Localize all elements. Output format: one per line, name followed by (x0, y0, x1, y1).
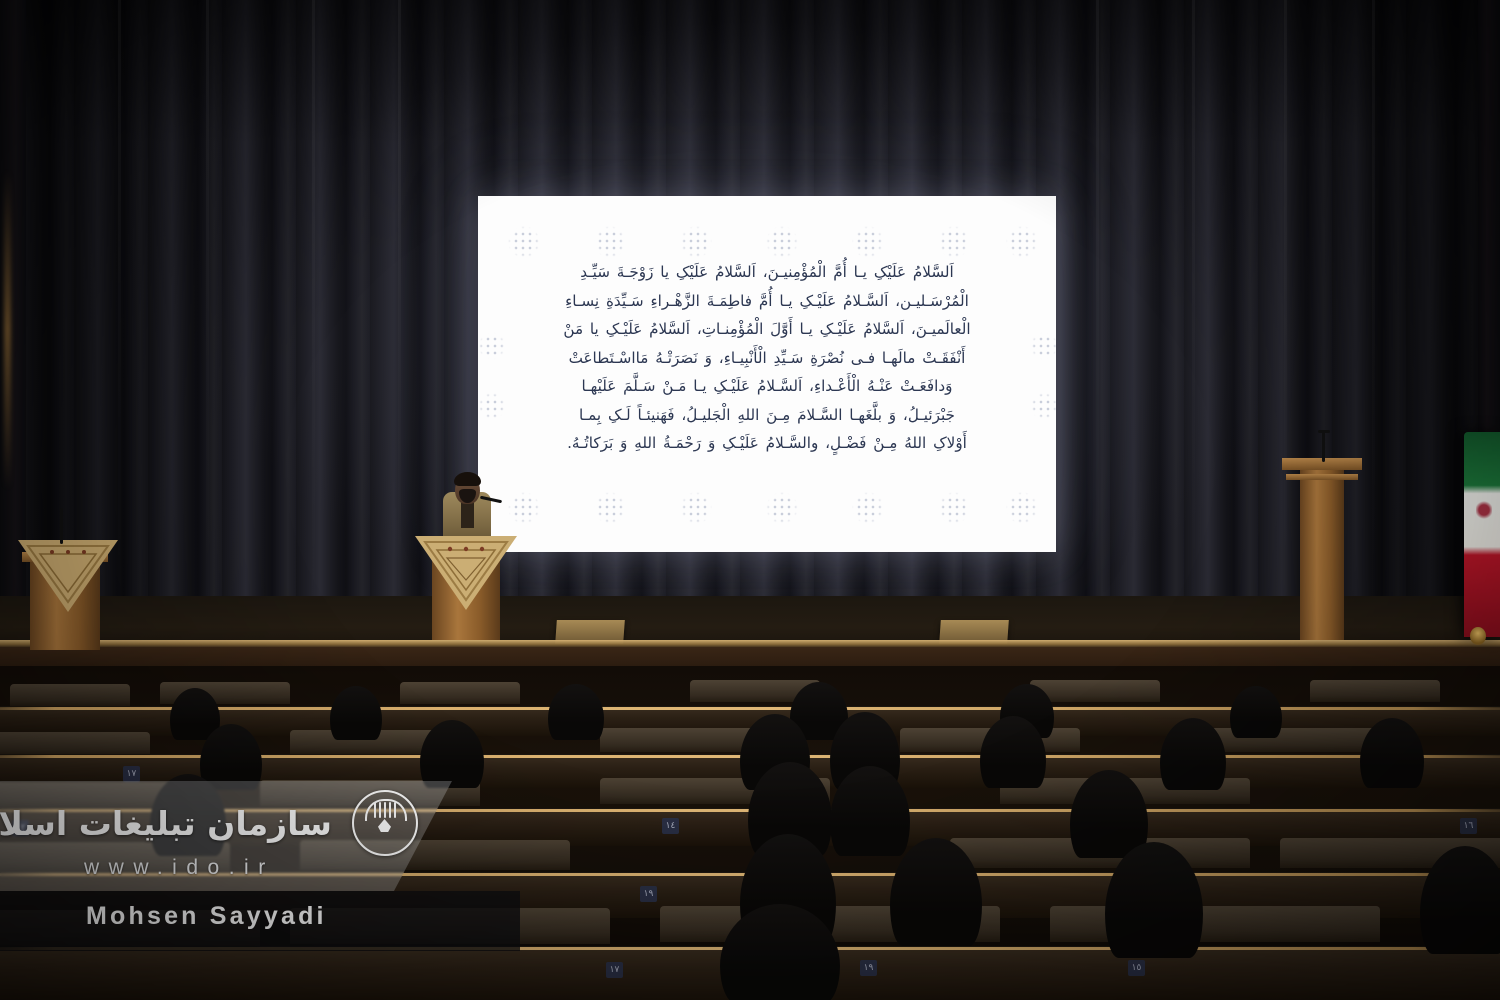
attendee (548, 684, 604, 740)
seat-cushion (10, 684, 130, 706)
iran-flag (1464, 432, 1500, 637)
stage-edge-trim (0, 640, 1500, 647)
emblem-bars (374, 802, 396, 818)
attendee (1230, 686, 1282, 738)
organization-name: سازمان تبلیغات اسلامی (82, 793, 332, 855)
seat-cushion (400, 682, 520, 704)
left-podium-microphone (60, 508, 63, 544)
speaker-podium-drape (411, 532, 521, 614)
wall-light-strip (4, 170, 11, 490)
slide-line: الْمُرْسَـليـن، اَلسَّـلامُ عَلَيْـکِ يـ… (498, 287, 1036, 316)
curtain-fold (1372, 0, 1375, 660)
photo-canvas: اَلسَّلامُ عَلَيْکِ يـا أُمَّ الْمُؤْمِن… (0, 0, 1500, 1000)
speaker-hair (454, 472, 481, 486)
seat-cushion (0, 732, 150, 756)
seat-number: ١٩ (640, 886, 657, 902)
curtain-fold (1096, 0, 1099, 660)
right-podium-microphone (1322, 432, 1325, 462)
slide-line: الْعالَميـنَ، اَلسَّلامُ عَلَيْـکِ يـا أ… (498, 315, 1036, 344)
seat-number: ١٥ (1128, 960, 1145, 976)
slide-line: وَدافَعَـتْ عَنْـهُ الْأَعْـداءِ، اَلسَّ… (498, 372, 1036, 401)
slide-line: أَنْفَقَـتْ مالَهـا فـى نُصْرَةِ سَـيِّد… (498, 344, 1036, 373)
seat-number: ١٤ (662, 818, 679, 834)
slide-line: جَبْرَئيـلُ، وَ بلَّغَهـا السَّـلامَ مِـ… (498, 401, 1036, 430)
right-podium-shelf (1286, 474, 1358, 480)
website-url[interactable]: www.ido.ir (84, 856, 384, 880)
curtain-fold (1284, 0, 1287, 660)
curtain-fold (398, 0, 401, 660)
seat-number: ١٩ (860, 960, 877, 976)
seat-cushion (1050, 906, 1380, 942)
iran-flag-emblem (1476, 500, 1492, 520)
curtain-fold (1192, 0, 1195, 660)
slide-line: أَوْلاکِ اللهُ مِـنْ فَضْـلٍ، والسَّـلام… (498, 429, 1036, 458)
photographer-credit: Mohsen Sayyadi (86, 902, 327, 931)
seat-cushion (1310, 680, 1440, 702)
seat-number: ١٧ (606, 962, 623, 978)
right-podium (1300, 468, 1344, 640)
seat-number: ١٧ (123, 766, 140, 782)
left-podium-drape (14, 536, 122, 616)
slide-line: اَلسَّلامُ عَلَيْکِ يـا أُمَّ الْمُؤْمِن… (498, 258, 1036, 287)
attendee (330, 686, 382, 740)
right-podium-mic-head (1318, 430, 1330, 433)
seat-number: ١٦ (1460, 818, 1477, 834)
ido-emblem-icon (352, 790, 418, 856)
projection-screen: اَلسَّلامُ عَلَيْکِ يـا أُمَّ الْمُؤْمِن… (478, 196, 1056, 552)
flag-finial (1470, 627, 1486, 645)
curtain-fold (206, 0, 209, 660)
slide-text-block: اَلسَّلامُ عَلَيْکِ يـا أُمَّ الْمُؤْمِن… (498, 258, 1036, 458)
curtain-fold (312, 0, 315, 660)
